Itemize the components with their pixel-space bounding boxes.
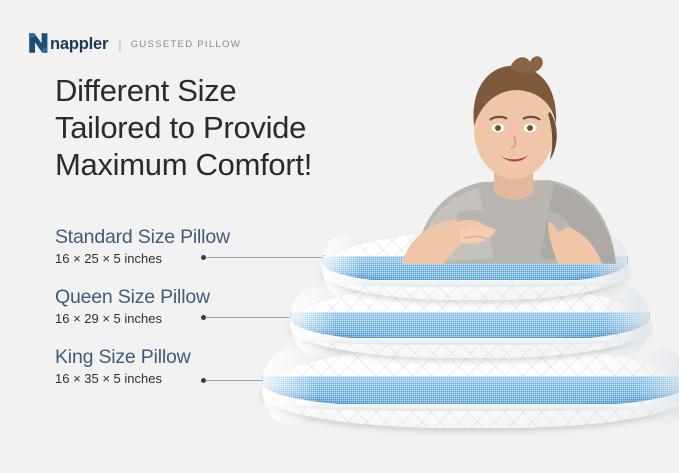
model-lips <box>501 155 528 162</box>
headline: Different Size Tailored to Provide Maxim… <box>55 72 395 183</box>
model-forearm-right <box>548 222 602 264</box>
model-hand <box>460 226 496 244</box>
pillow-quilt-texture <box>262 346 679 428</box>
pillow-king <box>262 346 679 428</box>
leader-rule <box>206 380 262 381</box>
pillow-queen <box>290 284 650 358</box>
model-hair-bun <box>510 56 543 73</box>
product-infographic: nappler | GUSSETED PILLOW Different Size… <box>0 0 679 473</box>
pillow-corner-left <box>262 349 318 424</box>
size-title: Queen Size Pillow <box>55 286 210 309</box>
model-eye-right <box>527 125 533 131</box>
brand-header: nappler | GUSSETED PILLOW <box>28 31 241 55</box>
pillow-quilt-texture <box>290 284 650 358</box>
pillow-corner-right <box>636 349 679 424</box>
size-title: King Size Pillow <box>55 346 191 369</box>
size-callout-standard: Standard Size Pillow 16 × 25 × 5 inches <box>55 226 230 267</box>
model-face <box>474 81 554 179</box>
model-photo <box>398 52 628 264</box>
pillow-gusset-band <box>290 312 650 341</box>
pillow-corner-left <box>322 235 362 298</box>
size-title: Standard Size Pillow <box>55 226 230 249</box>
leader-dot-end <box>292 315 297 320</box>
pillow-gusset-band <box>262 376 679 407</box>
nappler-n-mark-icon <box>28 32 49 54</box>
brand-tagline: GUSSETED PILLOW <box>131 40 241 50</box>
leader-line-king <box>201 377 267 384</box>
size-dimensions: 16 × 29 × 5 inches <box>55 310 210 327</box>
leader-dot-end <box>322 255 327 260</box>
pillow-shell <box>290 284 650 358</box>
brand-separator: | <box>118 38 121 51</box>
brand-name: nappler <box>50 36 108 53</box>
leader-dot-end <box>262 378 267 383</box>
pillow-standard <box>322 232 628 300</box>
size-dimensions: 16 × 25 × 5 inches <box>55 250 230 267</box>
model-forearm-left <box>402 218 490 264</box>
pillow-shell <box>322 232 628 300</box>
leader-line-queen <box>201 314 297 321</box>
size-callout-king: King Size Pillow 16 × 35 × 5 inches <box>55 346 191 387</box>
leader-dot-start <box>201 378 206 383</box>
leader-rule <box>206 317 292 318</box>
size-callout-queen: Queen Size Pillow 16 × 29 × 5 inches <box>55 286 210 327</box>
headline-line-3: Maximum Comfort! <box>55 146 395 183</box>
model-cuff-right <box>538 210 570 232</box>
model-sweater-texture <box>416 180 616 264</box>
model-eye-left <box>495 125 501 131</box>
model-sweater <box>416 180 616 264</box>
size-dimensions: 16 × 35 × 5 inches <box>55 370 191 387</box>
pillow-quilt-texture <box>322 232 628 300</box>
pillow-corner-right <box>603 287 650 355</box>
pillow-corner-left <box>290 287 337 355</box>
headline-line-1: Different Size <box>55 72 395 109</box>
pillow-corner-right <box>588 235 628 298</box>
headline-line-2: Tailored to Provide <box>55 109 395 146</box>
model-hair <box>474 66 557 126</box>
model-cuff-left <box>456 210 494 228</box>
pillow-shell <box>262 346 679 428</box>
pillow-gusset-band <box>322 256 628 283</box>
model-illustration <box>398 52 628 264</box>
